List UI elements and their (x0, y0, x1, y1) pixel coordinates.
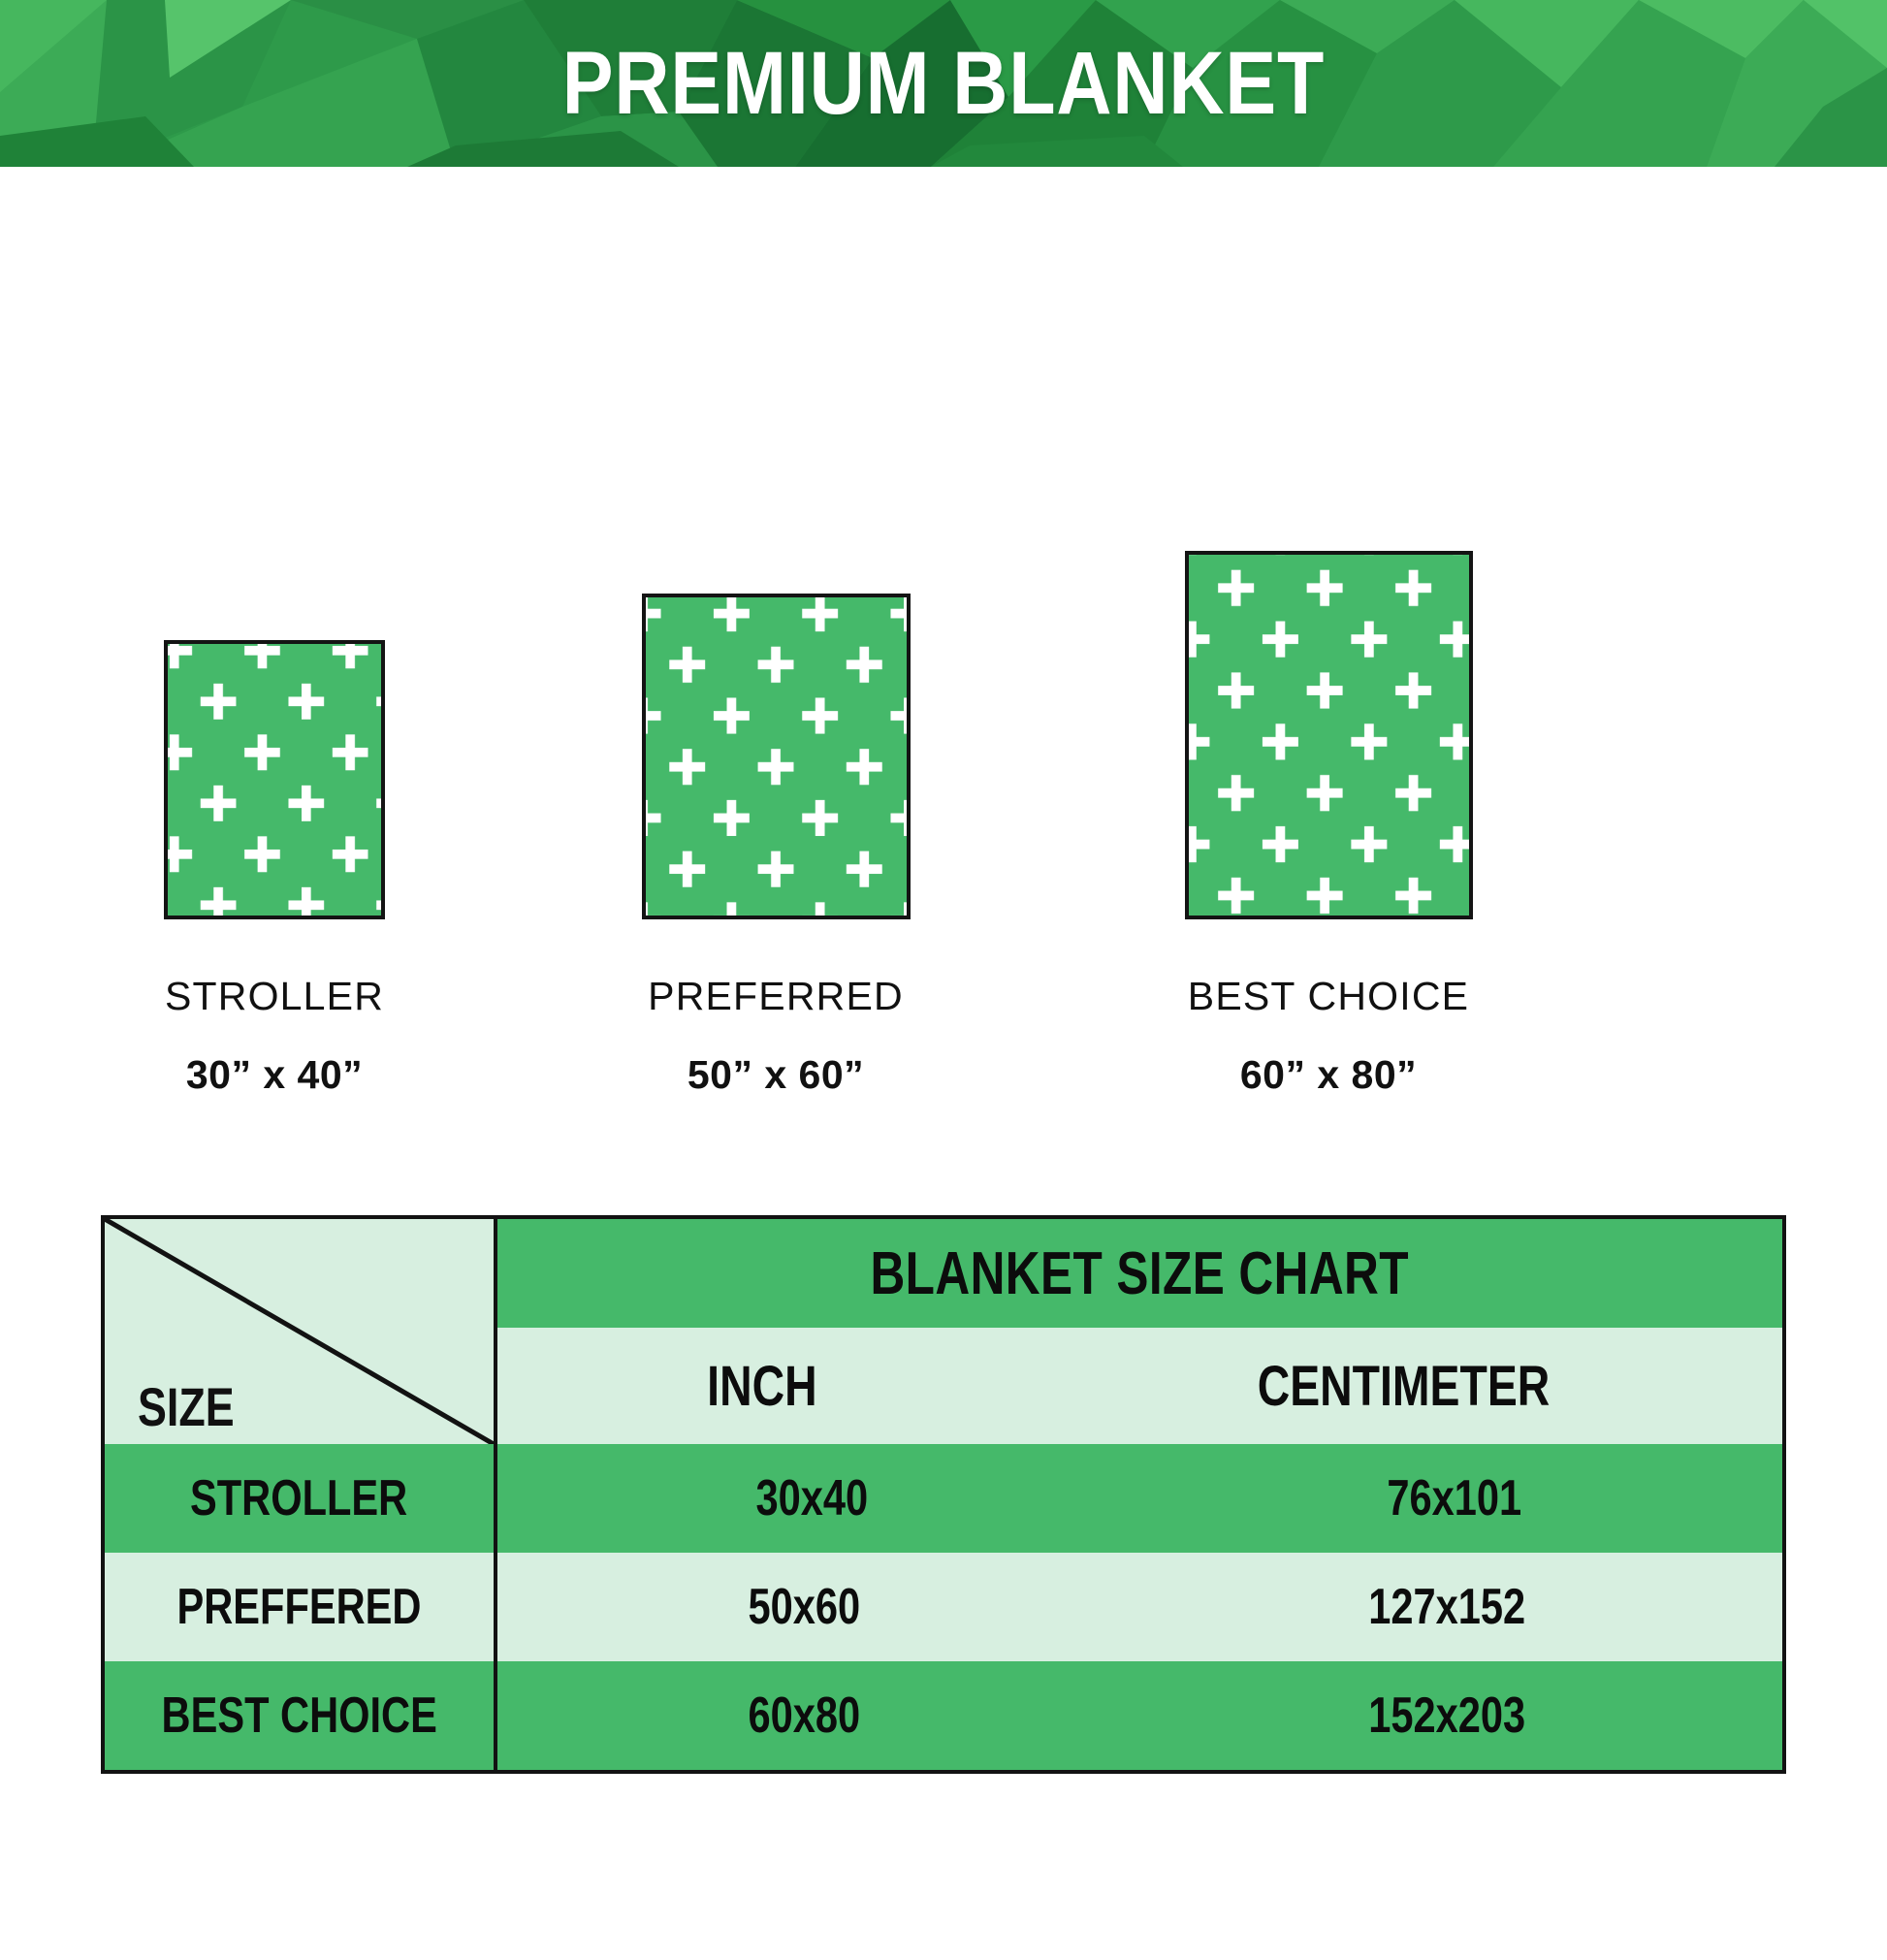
table-cell-centimeter-text: 152x203 (1368, 1687, 1525, 1745)
table-title-bar: BLANKET SIZE CHART (497, 1219, 1782, 1328)
blanket-swatch-best-choice (1185, 551, 1473, 919)
table-cell-size-text: STROLLER (190, 1469, 407, 1527)
table-corner-cell: SIZE (105, 1219, 497, 1444)
table-cell-inch-text: 50x60 (749, 1578, 861, 1636)
page-title: PREMIUM BLANKET (132, 0, 1755, 167)
page-header: PREMIUM BLANKET (0, 0, 1887, 167)
swatch-group-preferred: PREFERRED 50” x 60” (519, 594, 1033, 1098)
swatch-group-best-choice: BEST CHOICE 60” x 80” (1057, 551, 1600, 1098)
plus-cross-pattern (1189, 555, 1469, 916)
table-right-stack: BLANKET SIZE CHART INCH CENTIMETER (497, 1219, 1782, 1444)
table-header-centimeter-text: CENTIMETER (1258, 1354, 1551, 1419)
table-cell-size-text: PREFFERED (177, 1578, 422, 1636)
table-row: BEST CHOICE 60x80 152x203 (105, 1661, 1782, 1770)
table-header-inch-text: INCH (707, 1354, 816, 1419)
swatch-box-wrap (642, 594, 911, 919)
table-cell-centimeter: 127x152 (1112, 1553, 1782, 1661)
table-header-row: INCH CENTIMETER (497, 1328, 1782, 1444)
swatch-label-preferred: PREFERRED (648, 974, 904, 1019)
table-cell-centimeter: 76x101 (1126, 1444, 1782, 1553)
table-title-text: BLANKET SIZE CHART (871, 1239, 1410, 1308)
swatch-dims-stroller: 30” x 40” (186, 1052, 363, 1098)
table-cell-size: BEST CHOICE (105, 1661, 497, 1770)
blanket-size-table: SIZE BLANKET SIZE CHART INCH CENTIMETER … (101, 1215, 1786, 1774)
blanket-swatch-preferred (642, 594, 911, 919)
swatch-label-best-choice: BEST CHOICE (1188, 974, 1469, 1019)
swatch-box-wrap (164, 640, 385, 919)
table-row: PREFFERED 50x60 127x152 (105, 1553, 1782, 1661)
table-cell-inch: 30x40 (497, 1444, 1126, 1553)
table-cell-size: PREFFERED (105, 1553, 497, 1661)
blanket-swatch-stroller (164, 640, 385, 919)
table-cell-size: STROLLER (105, 1444, 497, 1553)
table-cell-inch: 60x80 (497, 1661, 1112, 1770)
table-cell-inch-text: 30x40 (755, 1469, 868, 1527)
swatch-label-stroller: STROLLER (165, 974, 384, 1019)
swatch-box-wrap (1185, 551, 1473, 919)
table-cell-inch: 50x60 (497, 1553, 1112, 1661)
table-cell-inch-text: 60x80 (749, 1687, 861, 1745)
table-corner-label: SIZE (138, 1375, 235, 1438)
table-cell-centimeter-text: 76x101 (1387, 1469, 1521, 1527)
table-header-centimeter: CENTIMETER (1026, 1328, 1782, 1444)
swatch-dims-preferred: 50” x 60” (688, 1052, 864, 1098)
swatch-dims-best-choice: 60” x 80” (1240, 1052, 1417, 1098)
swatch-group-stroller: STROLLER 30” x 40” (56, 640, 493, 1098)
table-row: STROLLER 30x40 76x101 (105, 1444, 1782, 1553)
table-cell-size-text: BEST CHOICE (161, 1687, 436, 1745)
table-title-row: SIZE BLANKET SIZE CHART INCH CENTIMETER (105, 1219, 1782, 1444)
plus-cross-pattern (646, 597, 907, 916)
table-cell-centimeter-text: 127x152 (1368, 1578, 1525, 1636)
table-cell-centimeter: 152x203 (1112, 1661, 1782, 1770)
table-header-inch: INCH (497, 1328, 1026, 1444)
table-title-cell: BLANKET SIZE CHART (497, 1219, 1782, 1328)
blanket-swatch-section: STROLLER 30” x 40” (0, 167, 1887, 1098)
plus-cross-pattern (168, 644, 381, 916)
